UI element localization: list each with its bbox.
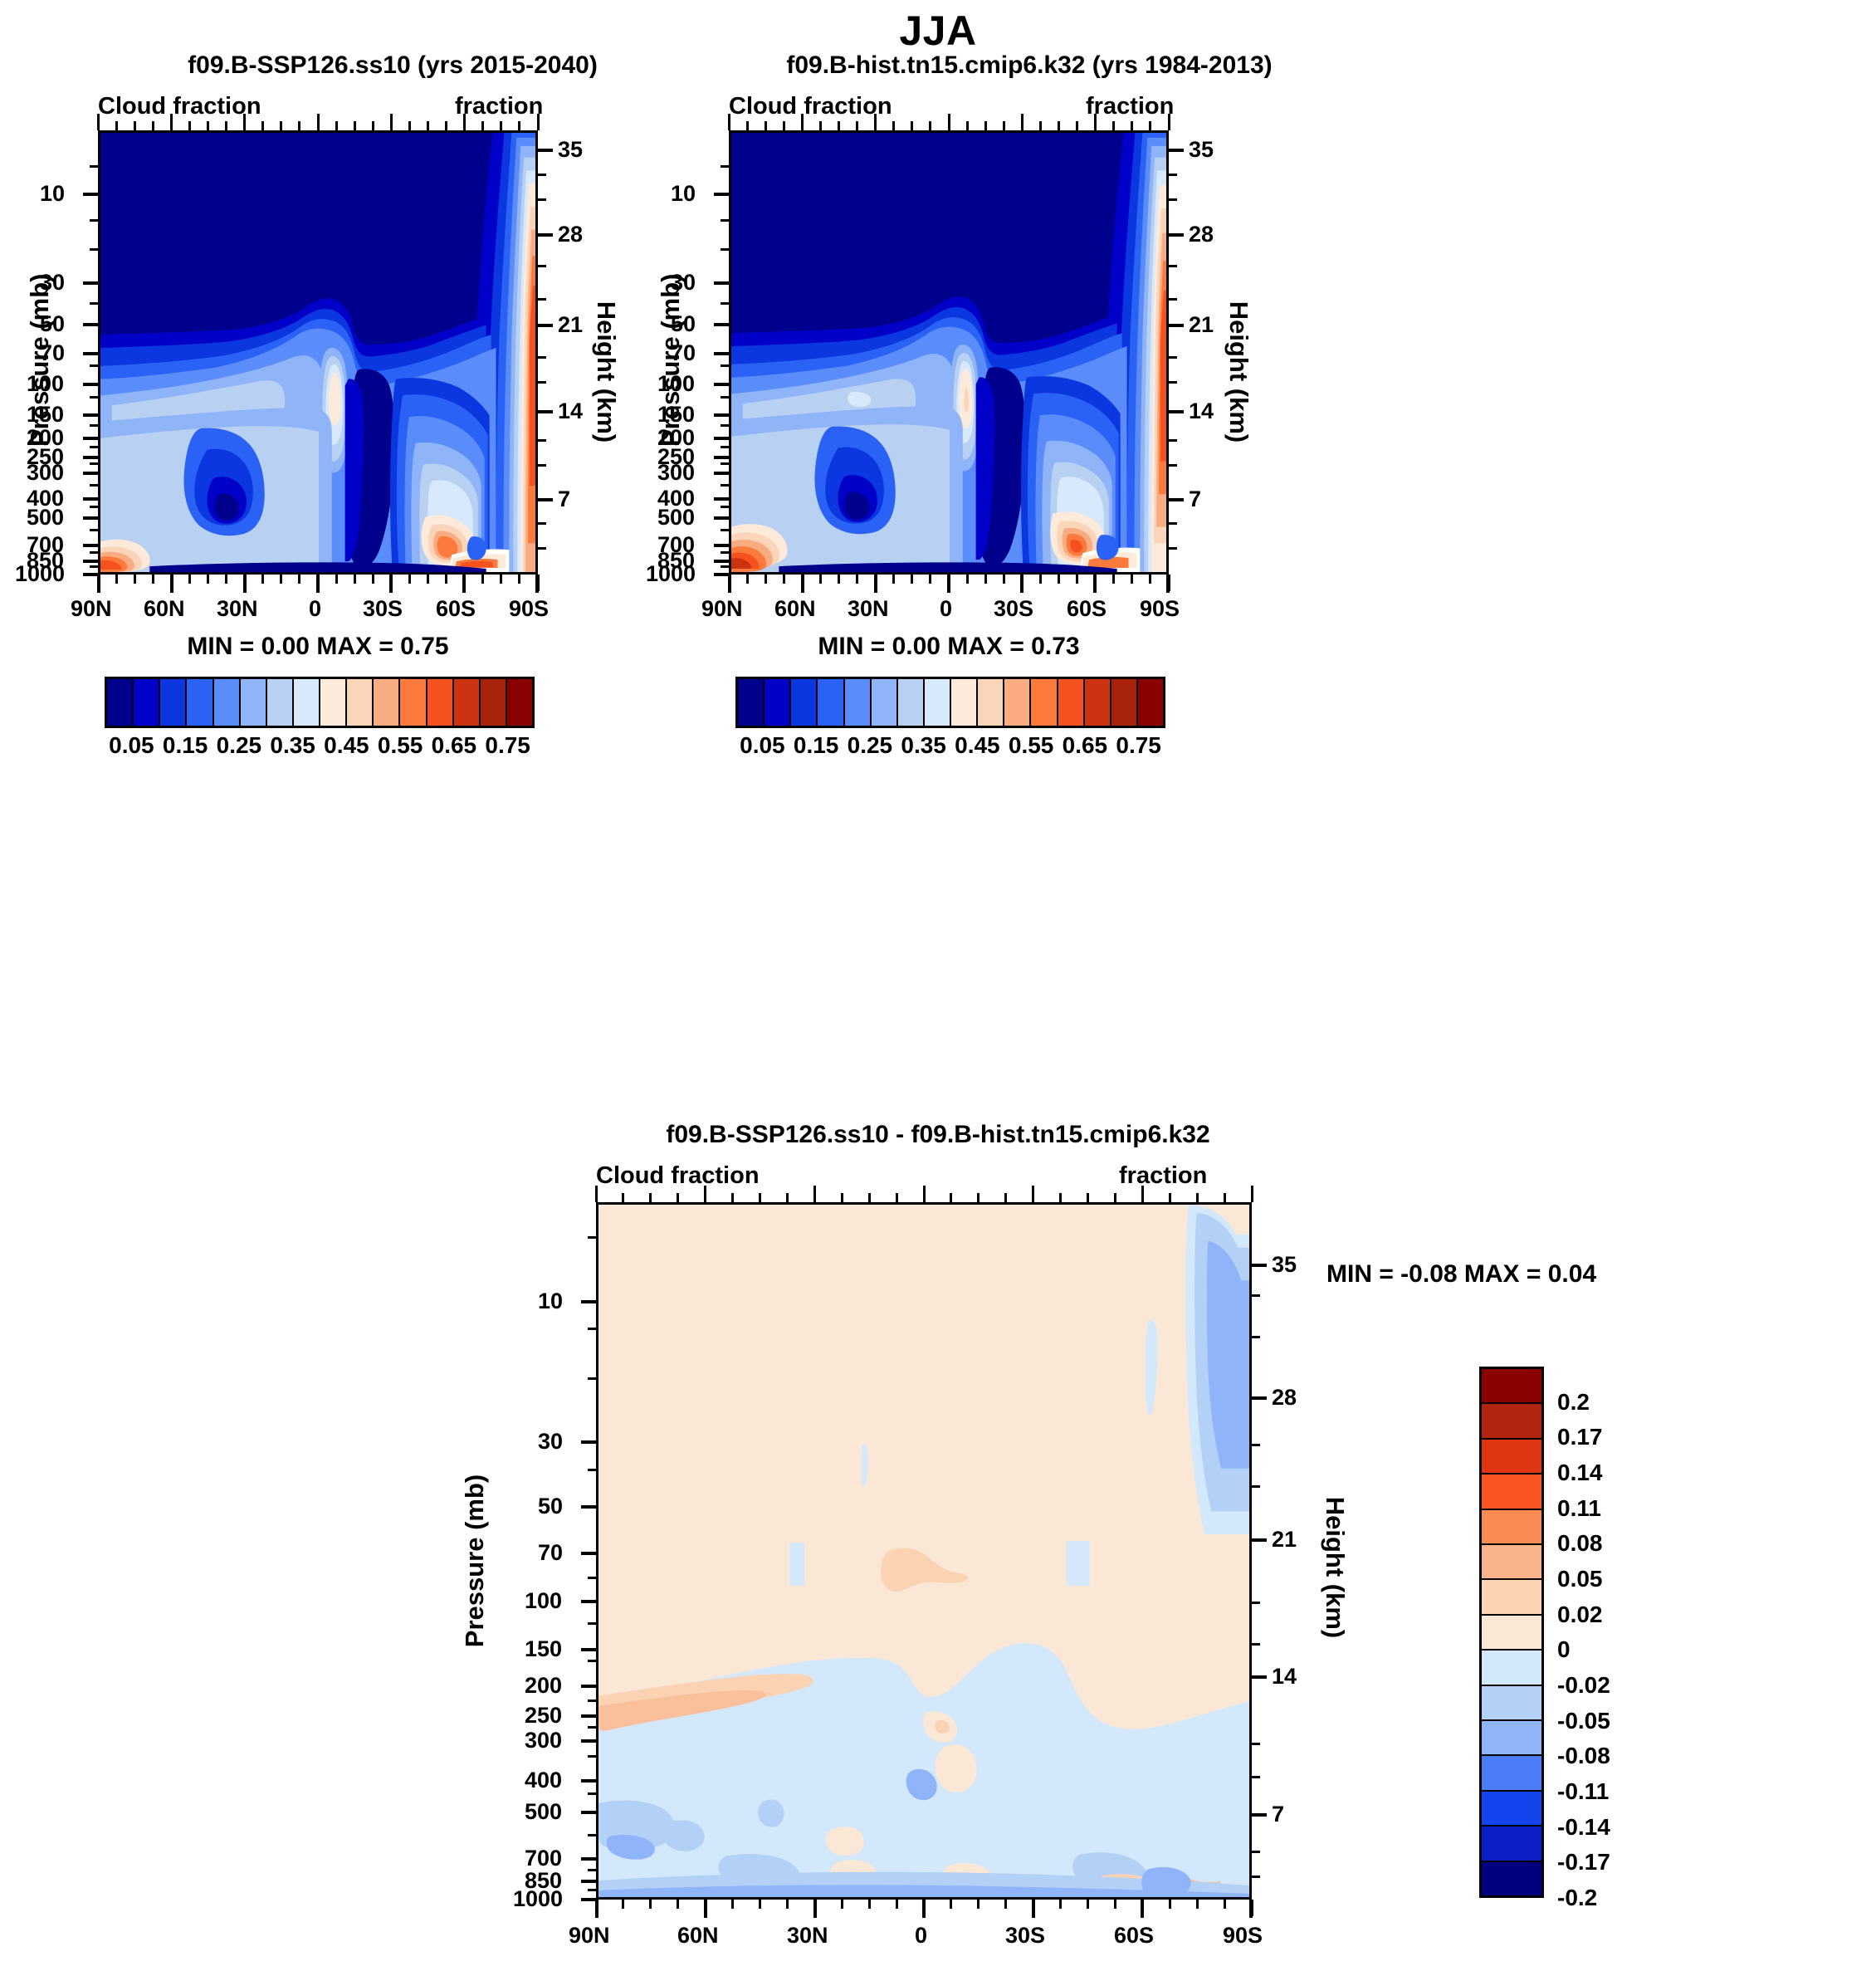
frame-minor-tick xyxy=(950,1193,952,1202)
tick-p-200-r xyxy=(714,437,729,440)
plot-area-top-right xyxy=(729,130,1169,575)
diff-colorbar-tick-label-0: 0.2 xyxy=(1557,1389,1590,1416)
colorbar-segment-3 xyxy=(187,679,213,726)
tick-p-150-r xyxy=(714,413,729,417)
axis-minor-tick xyxy=(90,506,98,508)
frame-minor-tick xyxy=(896,1900,898,1909)
tick-p-100-d xyxy=(581,1600,596,1603)
frame-minor-tick xyxy=(408,121,411,130)
tklabel-p-100-d: 100 xyxy=(525,1588,562,1614)
axis-minor-tick xyxy=(1252,1743,1260,1745)
frame-minor-tick xyxy=(225,575,227,584)
axis-minor-tick xyxy=(1169,265,1177,267)
colorbar-tick-label-5: 0.55 xyxy=(378,732,423,759)
axis-minor-tick xyxy=(90,462,98,465)
y-axis-label-diff: Pressure (mb) xyxy=(460,1461,490,1660)
axis-minor-tick xyxy=(588,1889,596,1891)
frame-minor-tick xyxy=(874,114,877,130)
axis-minor-tick xyxy=(538,198,546,201)
frame-minor-tick xyxy=(445,121,447,130)
y2-axis-label-top-right: Height (km) xyxy=(1224,289,1253,455)
frame-minor-tick xyxy=(1004,1900,1007,1909)
frame-minor-tick xyxy=(1114,1193,1116,1202)
axis-minor-tick xyxy=(1252,1876,1260,1878)
colorbar-segment-9 xyxy=(978,679,1004,726)
panel-title-text-diff: f09.B-SSP126.ss10 - f09.B-hist.tn15.cmip… xyxy=(415,1121,1461,1149)
frame-minor-tick xyxy=(1169,1193,1171,1202)
frame-minor-tick xyxy=(1251,1900,1253,1916)
frame-minor-tick xyxy=(354,575,356,584)
tick-p-500 xyxy=(83,516,98,520)
frame-minor-tick xyxy=(372,121,374,130)
plot-area-diff xyxy=(596,1202,1252,1900)
diff-colorbar-tick-label-14: -0.2 xyxy=(1557,1885,1597,1911)
diff-colorbar-segment-6 xyxy=(1482,1580,1541,1615)
axis-minor-tick xyxy=(721,165,729,168)
frame-minor-tick xyxy=(1076,575,1078,584)
y2-axis-label-top-left: Height (km) xyxy=(591,289,621,455)
colorbar-segment-10 xyxy=(1004,679,1031,726)
axis-minor-tick xyxy=(538,381,546,384)
frame-minor-tick xyxy=(765,575,767,584)
colorbar-segment-0 xyxy=(738,679,765,726)
tick-p-300-r xyxy=(714,472,729,475)
axis-minor-tick xyxy=(588,1755,596,1758)
tklabel-p-300-r: 300 xyxy=(657,460,695,486)
colorbar-segment-8 xyxy=(951,679,978,726)
panel-unit-label-top-left: fraction xyxy=(455,93,543,120)
tklabel-p-1000-d: 1000 xyxy=(513,1886,563,1912)
diff-colorbar-segment-10 xyxy=(1482,1721,1541,1756)
tick-p-50 xyxy=(83,323,98,326)
axis-minor-tick xyxy=(538,522,546,525)
frame-minor-tick xyxy=(1032,1900,1034,1916)
axis-minor-tick xyxy=(588,1660,596,1662)
tklabel-lat-30S: 30S xyxy=(363,596,403,622)
frame-minor-tick xyxy=(115,121,118,130)
tklabel-p-200-d: 200 xyxy=(525,1673,562,1699)
panel-var-label-top-left: Cloud fraction xyxy=(98,93,261,120)
tick-p-300-d xyxy=(581,1739,596,1743)
tick-p-500-r xyxy=(714,516,729,520)
tklabel-lat-90S-d: 90S xyxy=(1223,1923,1263,1949)
axis-minor-tick xyxy=(1252,1336,1260,1338)
tklabel-lat-90N-r: 90N xyxy=(701,596,743,622)
frame-minor-tick xyxy=(207,575,209,584)
frame-minor-tick xyxy=(280,575,282,584)
axis-minor-tick xyxy=(721,484,729,487)
colorbar-segment-7 xyxy=(925,679,951,726)
diff-colorbar-tick-label-13: -0.17 xyxy=(1557,1849,1610,1876)
colorbar-segment-0 xyxy=(107,679,134,726)
tick-p-400-d xyxy=(581,1779,596,1783)
frame-minor-tick xyxy=(1168,575,1170,591)
axis-minor-tick xyxy=(90,248,98,251)
colorbar-segment-11 xyxy=(1031,679,1058,726)
frame-minor-tick xyxy=(1168,114,1170,130)
colorbar-segment-5 xyxy=(872,679,898,726)
tklabel-lat-60N: 60N xyxy=(144,596,185,622)
diff-colorbar-tick-label-6: 0.02 xyxy=(1557,1602,1603,1628)
frame-minor-tick xyxy=(929,575,931,584)
axis-minor-tick xyxy=(538,174,546,176)
frame-minor-tick xyxy=(923,1900,926,1916)
axis-minor-tick xyxy=(1169,439,1177,442)
panel-title-text-top-right: f09.B-hist.tn15.cmip6.k32 (yrs 1984-2013… xyxy=(714,51,1345,80)
y-axis-label-top-right: Pressure (mb) xyxy=(656,281,686,447)
frame-minor-tick xyxy=(911,121,913,130)
frame-minor-tick xyxy=(1003,575,1005,584)
axis-minor-tick xyxy=(588,1577,596,1579)
frame-minor-tick xyxy=(1169,1900,1171,1909)
frame-minor-tick xyxy=(759,1193,761,1202)
axis-minor-tick xyxy=(90,302,98,305)
colorbar-labels-top-right: 0.050.150.250.350.450.550.650.75 xyxy=(735,732,1165,765)
tick-p-300 xyxy=(83,472,98,475)
tick-h-28 xyxy=(538,233,553,237)
frame-minor-tick xyxy=(537,114,540,130)
axis-minor-tick xyxy=(90,364,98,367)
tklabel-h-28-d: 28 xyxy=(1272,1385,1297,1411)
frame-minor-tick xyxy=(984,575,987,584)
tick-h-35-d xyxy=(1252,1264,1267,1267)
axis-minor-tick xyxy=(721,302,729,305)
tick-h-14 xyxy=(538,410,553,413)
colorbar-tick-label-6: 0.65 xyxy=(1063,732,1108,759)
frame-minor-tick xyxy=(427,575,429,584)
tick-p-70 xyxy=(83,352,98,355)
diff-colorbar-segment-1 xyxy=(1482,1404,1541,1439)
frame-minor-tick xyxy=(838,121,840,130)
colorbar-tick-label-3: 0.35 xyxy=(901,732,946,759)
colorbar-segment-15 xyxy=(1138,679,1163,726)
colorbar-tick-label-7: 0.75 xyxy=(485,732,530,759)
diff-colorbar-segment-7 xyxy=(1482,1616,1541,1651)
axis-minor-tick xyxy=(588,1834,596,1836)
tklabel-h-35-r: 35 xyxy=(1189,137,1214,163)
frame-minor-tick xyxy=(874,575,877,591)
panel-title-top-right: f09.B-hist.tn15.cmip6.k32 (yrs 1984-2013… xyxy=(714,51,1345,80)
frame-minor-tick xyxy=(518,121,520,130)
tklabel-lat-30N-d: 30N xyxy=(787,1923,828,1949)
frame-minor-tick xyxy=(317,575,320,591)
colorbar-diff xyxy=(1479,1367,1544,1898)
frame-minor-tick xyxy=(298,121,300,130)
tklabel-lat-60S-d: 60S xyxy=(1114,1923,1154,1949)
frame-minor-tick xyxy=(948,575,950,591)
tick-p-10-r xyxy=(714,193,729,196)
frame-minor-tick xyxy=(243,575,246,591)
tklabel-p-70-d: 70 xyxy=(538,1540,563,1566)
tklabel-lat-90S-r: 90S xyxy=(1140,596,1180,622)
axis-minor-tick xyxy=(1252,1643,1260,1646)
frame-minor-tick xyxy=(892,121,895,130)
frame-minor-tick xyxy=(1058,575,1060,584)
tklabel-h-14-d: 14 xyxy=(1272,1664,1297,1690)
frame-minor-tick xyxy=(728,575,730,591)
frame-minor-tick xyxy=(335,121,338,130)
frame-minor-tick xyxy=(115,575,118,584)
axis-minor-tick xyxy=(90,529,98,531)
frame-minor-tick xyxy=(948,114,950,130)
tklabel-p-50-d: 50 xyxy=(538,1494,563,1519)
axis-minor-tick xyxy=(588,1377,596,1380)
axis-minor-tick xyxy=(1169,381,1177,384)
frame-minor-tick xyxy=(1059,1193,1062,1202)
axis-minor-tick xyxy=(721,364,729,367)
tick-h-35-r xyxy=(1169,149,1184,152)
panel-title-top-left: f09.B-SSP126.ss10 (yrs 2015-2040) xyxy=(98,51,687,80)
frame-minor-tick xyxy=(1039,575,1042,584)
frame-minor-tick xyxy=(911,575,913,584)
frame-minor-tick xyxy=(868,1900,871,1909)
axis-minor-tick xyxy=(90,484,98,487)
plot-area-top-left xyxy=(98,130,538,575)
frame-minor-tick xyxy=(783,121,785,130)
axis-minor-tick xyxy=(588,1328,596,1330)
tick-p-850 xyxy=(83,560,98,563)
frame-minor-tick xyxy=(856,575,858,584)
tick-p-30-r xyxy=(714,281,729,285)
tick-p-1000 xyxy=(83,573,98,576)
axis-minor-tick xyxy=(721,446,729,448)
frame-minor-tick xyxy=(783,575,785,584)
tick-p-100-r xyxy=(714,383,729,386)
frame-minor-tick xyxy=(819,575,822,584)
frame-minor-tick xyxy=(595,1186,598,1202)
tklabel-h-21: 21 xyxy=(558,312,583,338)
tklabel-lat-60N-r: 60N xyxy=(774,596,816,622)
diff-colorbar-segment-8 xyxy=(1482,1651,1541,1685)
frame-minor-tick xyxy=(500,121,502,130)
axis-minor-tick xyxy=(538,356,546,359)
frame-minor-tick xyxy=(801,575,804,591)
axis-minor-tick xyxy=(1252,1294,1260,1297)
frame-minor-tick xyxy=(841,1193,843,1202)
y-axis-label-top-left: Pressure (mb) xyxy=(25,281,55,447)
colorbar-segment-14 xyxy=(1111,679,1138,726)
frame-minor-tick xyxy=(1003,121,1005,130)
colorbar-segment-5 xyxy=(241,679,267,726)
tklabel-h-21-r: 21 xyxy=(1189,312,1214,338)
colorbar-tick-label-6: 0.65 xyxy=(432,732,477,759)
diff-colorbar-segment-0 xyxy=(1482,1369,1541,1404)
tklabel-p-400-d: 400 xyxy=(525,1768,562,1793)
frame-minor-tick xyxy=(984,121,987,130)
colorbar-segment-6 xyxy=(267,679,294,726)
tklabel-p-500: 500 xyxy=(27,505,64,531)
frame-minor-tick xyxy=(1141,1186,1144,1202)
colorbar-top-right xyxy=(735,677,1165,728)
axis-minor-tick xyxy=(1252,1444,1260,1446)
tklabel-lat-30S-d: 30S xyxy=(1005,1923,1045,1949)
frame-minor-tick xyxy=(170,114,173,130)
tick-h-28-d xyxy=(1252,1396,1267,1400)
frame-minor-tick xyxy=(966,121,969,130)
colorbar-tick-label-0: 0.05 xyxy=(740,732,785,759)
frame-minor-tick xyxy=(1032,1186,1034,1202)
tick-p-850-d xyxy=(581,1880,596,1883)
colorbar-segment-7 xyxy=(294,679,320,726)
min-max-diff: MIN = -0.08 MAX = 0.04 xyxy=(1326,1260,1596,1289)
colorbar-segment-12 xyxy=(1058,679,1085,726)
colorbar-segment-1 xyxy=(765,679,791,726)
tick-p-250-d xyxy=(581,1714,596,1718)
frame-minor-tick xyxy=(1021,575,1023,591)
tklabel-p-500-d: 500 xyxy=(525,1799,562,1825)
frame-minor-tick xyxy=(335,575,338,584)
colorbar-tick-label-5: 0.55 xyxy=(1009,732,1054,759)
tklabel-h-35-d: 35 xyxy=(1272,1252,1297,1278)
frame-minor-tick xyxy=(1112,575,1115,584)
axis-minor-tick xyxy=(538,464,546,467)
frame-minor-tick xyxy=(390,114,393,130)
colorbar-segment-2 xyxy=(791,679,818,726)
tklabel-lat-30N: 30N xyxy=(217,596,258,622)
diff-colorbar-segment-13 xyxy=(1482,1827,1541,1861)
frame-minor-tick xyxy=(759,1900,761,1909)
axis-minor-tick xyxy=(538,265,546,267)
frame-minor-tick xyxy=(622,1900,624,1909)
frame-minor-tick xyxy=(929,121,931,130)
diff-colorbar-segment-11 xyxy=(1482,1756,1541,1791)
frame-minor-tick xyxy=(463,575,466,591)
frame-minor-tick xyxy=(1087,1900,1089,1909)
tklabel-p-10-d: 10 xyxy=(538,1289,563,1314)
figure-title: JJA xyxy=(0,7,1876,55)
tick-h-28-r xyxy=(1169,233,1184,237)
tklabel-h-21-d: 21 xyxy=(1272,1527,1297,1553)
axis-minor-tick xyxy=(1252,1851,1260,1853)
tick-h-35 xyxy=(538,149,553,152)
frame-minor-tick xyxy=(868,1193,871,1202)
frame-minor-tick xyxy=(134,121,136,130)
frame-minor-tick xyxy=(1149,575,1151,584)
tklabel-lat-90N: 90N xyxy=(71,596,112,622)
tick-p-400-r xyxy=(714,497,729,501)
diff-colorbar-segment-9 xyxy=(1482,1686,1541,1721)
axis-minor-tick xyxy=(721,565,729,568)
frame-minor-tick xyxy=(518,575,520,584)
axis-minor-tick xyxy=(721,248,729,251)
frame-minor-tick xyxy=(1114,1900,1116,1909)
axis-minor-tick xyxy=(1169,356,1177,359)
diff-colorbar-tick-label-10: -0.08 xyxy=(1557,1743,1610,1769)
axis-minor-tick xyxy=(721,506,729,508)
y2-axis-label-diff: Height (km) xyxy=(1320,1476,1350,1659)
frame-minor-tick xyxy=(463,114,466,130)
frame-minor-tick xyxy=(481,575,484,584)
axis-minor-tick xyxy=(721,529,729,531)
frame-minor-tick xyxy=(1004,1193,1007,1202)
frame-minor-tick xyxy=(1021,114,1023,130)
contour-canvas-top-right xyxy=(731,133,1166,572)
axis-minor-tick xyxy=(1169,464,1177,467)
tick-h-14-r xyxy=(1169,410,1184,413)
tick-p-150 xyxy=(83,413,98,417)
axis-minor-tick xyxy=(1169,174,1177,176)
axis-minor-tick xyxy=(588,1236,596,1239)
frame-minor-tick xyxy=(427,121,429,130)
tklabel-h-35: 35 xyxy=(558,137,583,163)
frame-minor-tick xyxy=(261,121,264,130)
tklabel-h-7-d: 7 xyxy=(1272,1802,1284,1827)
colorbar-tick-label-2: 0.25 xyxy=(217,732,262,759)
frame-minor-tick xyxy=(243,114,246,130)
colorbar-segment-13 xyxy=(454,679,481,726)
tklabel-p-300: 300 xyxy=(27,460,64,486)
frame-minor-tick xyxy=(1196,1900,1199,1909)
tick-p-700 xyxy=(83,544,98,547)
tick-p-200-d xyxy=(581,1685,596,1688)
frame-minor-tick xyxy=(170,575,173,591)
axis-minor-tick xyxy=(538,547,546,550)
tick-p-50-r xyxy=(714,323,729,326)
panel-unit-label-top-right: fraction xyxy=(1086,93,1174,120)
tick-p-70-d xyxy=(581,1552,596,1555)
frame-minor-tick xyxy=(500,575,502,584)
tklabel-p-500-r: 500 xyxy=(657,505,695,531)
tklabel-lat-90S: 90S xyxy=(509,596,549,622)
axis-minor-tick xyxy=(721,551,729,554)
frame-minor-tick xyxy=(649,1193,652,1202)
tick-h-7-r xyxy=(1169,498,1184,501)
tklabel-lat-0-r: 0 xyxy=(940,596,952,622)
colorbar-segment-13 xyxy=(1085,679,1111,726)
axis-minor-tick xyxy=(1169,198,1177,201)
diff-colorbar-segment-5 xyxy=(1482,1545,1541,1580)
tklabel-lat-60N-d: 60N xyxy=(677,1923,719,1949)
frame-minor-tick xyxy=(704,1900,706,1916)
tick-p-700-d xyxy=(581,1857,596,1861)
colorbar-segment-1 xyxy=(134,679,160,726)
tick-p-700-r xyxy=(714,544,729,547)
tklabel-lat-90N-d: 90N xyxy=(569,1923,610,1949)
tick-h-21-r xyxy=(1169,324,1184,327)
axis-minor-tick xyxy=(1252,1602,1260,1604)
tick-p-150-d xyxy=(581,1648,596,1651)
diff-colorbar-tick-label-11: -0.11 xyxy=(1557,1778,1609,1805)
frame-minor-tick xyxy=(841,1900,843,1909)
frame-minor-tick xyxy=(408,575,411,584)
tklabel-h-7: 7 xyxy=(558,487,570,512)
frame-minor-tick xyxy=(1058,121,1060,130)
tick-h-21-d xyxy=(1252,1538,1267,1542)
panel-var-label-diff: Cloud fraction xyxy=(596,1162,760,1190)
frame-minor-tick xyxy=(813,1186,816,1202)
frame-minor-tick xyxy=(225,121,227,130)
colorbar-segment-4 xyxy=(214,679,241,726)
frame-minor-tick xyxy=(207,121,209,130)
diff-colorbar-tick-label-9: -0.05 xyxy=(1557,1708,1610,1734)
frame-minor-tick xyxy=(537,575,540,591)
tick-p-1000-d xyxy=(581,1898,596,1901)
frame-minor-tick xyxy=(977,1193,980,1202)
colorbar-labels-top-left: 0.050.150.250.350.450.550.650.75 xyxy=(105,732,535,765)
colorbar-tick-label-4: 0.45 xyxy=(955,732,1000,759)
tklabel-lat-30N-r: 30N xyxy=(848,596,889,622)
colorbar-tick-label-3: 0.35 xyxy=(270,732,315,759)
min-max-top-left: MIN = 0.00 MAX = 0.75 xyxy=(98,633,538,661)
axis-minor-tick xyxy=(1252,1776,1260,1778)
tklabel-p-1000: 1000 xyxy=(15,561,65,587)
frame-minor-tick xyxy=(677,1193,679,1202)
tick-p-200 xyxy=(83,437,98,440)
axis-minor-tick xyxy=(90,551,98,554)
tklabel-lat-60S: 60S xyxy=(436,596,476,622)
axis-minor-tick xyxy=(90,396,98,399)
frame-minor-tick xyxy=(595,1900,598,1916)
